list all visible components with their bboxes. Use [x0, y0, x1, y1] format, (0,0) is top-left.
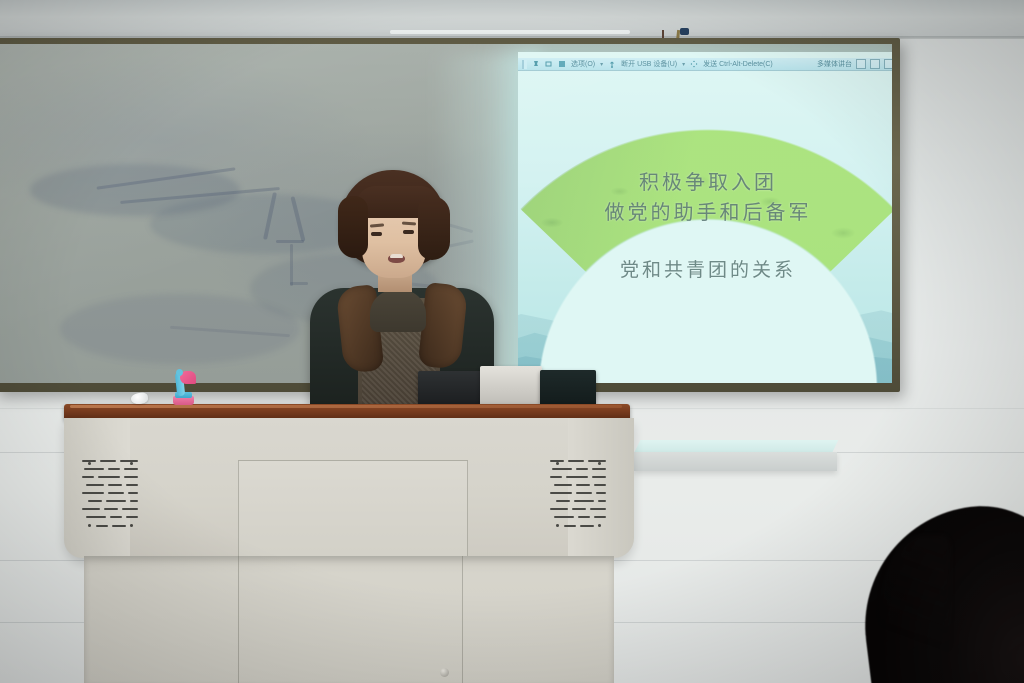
usb-menu-label[interactable]: 断开 USB 设备(U) [621, 59, 677, 69]
screenshot-stage: 选项(O) ▾ 断开 USB 设备(U) ▾ 发送 Ctrl-Alt-Delet… [0, 0, 1024, 683]
restore-button[interactable] [870, 59, 880, 69]
eye-left [371, 232, 382, 236]
equipment-box-left [418, 371, 488, 407]
send-keys-icon[interactable] [690, 60, 698, 68]
cabinet-seam-right [462, 556, 463, 683]
ceiling-panel-line [390, 30, 630, 34]
speaker-grille-left [80, 458, 142, 536]
drag-grip-icon[interactable] [522, 60, 527, 69]
slide-title-line-1: 积极争取入团 [518, 166, 892, 195]
vm-toolbar[interactable]: 选项(O) ▾ 断开 USB 设备(U) ▾ 发送 Ctrl-Alt-Delet… [518, 58, 892, 71]
spray-bottle-nozzle [176, 369, 183, 376]
options-icon[interactable] [558, 60, 566, 68]
chevron-down-icon[interactable]: ▾ [682, 61, 685, 68]
projection-screen: 选项(O) ▾ 断开 USB 设备(U) ▾ 发送 Ctrl-Alt-Delet… [518, 52, 892, 383]
usb-icon[interactable] [608, 60, 616, 68]
options-menu-label[interactable]: 选项(O) [571, 59, 595, 69]
speaker-grille-right [548, 458, 610, 536]
cable-clip-icon [680, 28, 689, 35]
podium-lower-cabinet [84, 556, 614, 683]
vm-toolbar-right: 多媒体讲台 [817, 59, 892, 69]
equipment-box-right [540, 370, 596, 408]
cabinet-seam-left [238, 556, 239, 683]
vm-title-label: 多媒体讲台 [817, 59, 852, 69]
slide-canvas: 积极争取入团 做党的助手和后备军 党和共青团的关系 [518, 71, 892, 383]
equipment-box-center [480, 366, 542, 408]
speaker-hair-right [418, 196, 450, 260]
teeth [390, 254, 403, 258]
podium-wood-highlight [70, 405, 622, 408]
slide-text-block: 积极争取入团 做党的助手和后备军 党和共青团的关系 [518, 71, 892, 383]
podium-front-panel[interactable] [238, 460, 468, 566]
minimize-button[interactable] [856, 59, 866, 69]
pin-icon[interactable] [532, 60, 540, 68]
chevron-down-icon[interactable]: ▾ [600, 61, 603, 68]
cabinet-lock-icon[interactable] [440, 668, 449, 677]
eye-right [403, 230, 414, 234]
slide-subtitle-line: 党和共青团的关系 [518, 255, 892, 282]
speaker-hair-left [338, 196, 368, 258]
wall-ledge-face [634, 452, 837, 471]
speaker-turtleneck [370, 290, 426, 332]
slide-title-line-2: 做党的助手和后备军 [518, 196, 892, 225]
restore-icon[interactable] [545, 60, 553, 68]
send-ctrl-alt-delete-label[interactable]: 发送 Ctrl-Alt-Delete(C) [703, 59, 773, 69]
close-button[interactable] [884, 59, 892, 69]
